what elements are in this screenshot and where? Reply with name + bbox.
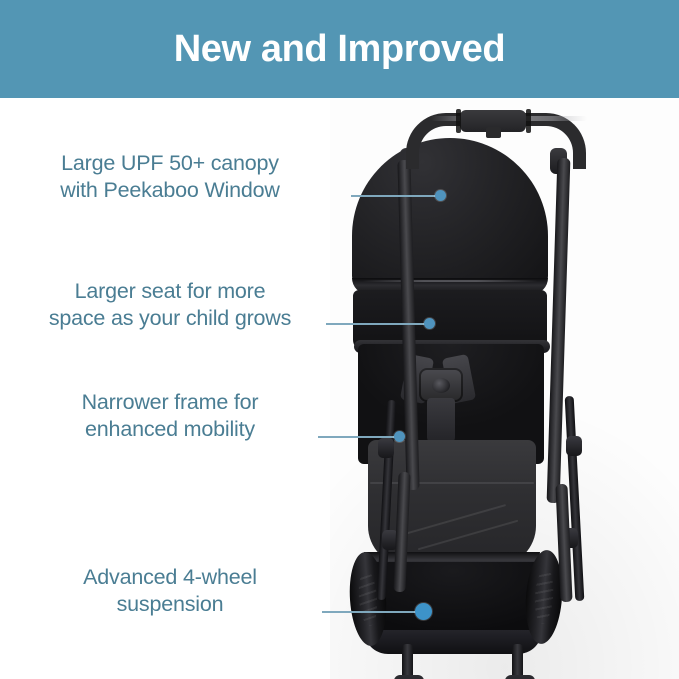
callout-canopy-line-1: Large UPF 50+ canopy [0,150,340,177]
strut-joint-right [566,436,582,456]
front-swivel-wheel [394,675,424,679]
callout-label-seat: Larger seat for more space as your child… [0,278,340,331]
callout-canopy-line-2: with Peekaboo Window [0,177,340,204]
callout-label-frame: Narrower frame for enhanced mobility [0,389,340,442]
leader-line-frame [318,436,398,438]
leader-line-suspension [322,611,422,613]
handlebar-joint-right [526,109,531,133]
front-leg-left [402,644,413,679]
front-leg-right [512,644,523,679]
leader-dot-canopy [435,190,446,201]
callout-label-suspension: Advanced 4-wheel suspension [0,564,340,617]
callout-seat-line-1: Larger seat for more [0,278,340,305]
leader-dot-suspension [415,603,432,620]
callout-suspension-line-1: Advanced 4-wheel [0,564,340,591]
callout-suspension-line-2: suspension [0,591,340,618]
leader-dot-seat [424,318,435,329]
page-title: New and Improved [174,30,505,68]
leader-line-canopy [351,195,439,197]
product-feature-infographic: New and Improved [0,0,679,679]
strut-joint-left [378,438,394,458]
handlebar-joint-left [456,109,461,133]
handlebar-center-grip [460,110,526,132]
header-banner: New and Improved [0,0,679,98]
leg-rest-seam [370,482,534,484]
callout-seat-line-2: space as your child grows [0,305,340,332]
callout-label-canopy: Large UPF 50+ canopy with Peekaboo Windo… [0,150,340,203]
leader-dot-frame [394,431,405,442]
harness-buckle [419,368,463,402]
harness-crotch-strap [427,398,455,444]
front-swivel-wheel-right [505,675,535,679]
callout-frame-line-2: enhanced mobility [0,416,340,443]
leader-line-seat [326,323,428,325]
stroller-product-image [330,100,679,679]
callout-frame-line-1: Narrower frame for [0,389,340,416]
